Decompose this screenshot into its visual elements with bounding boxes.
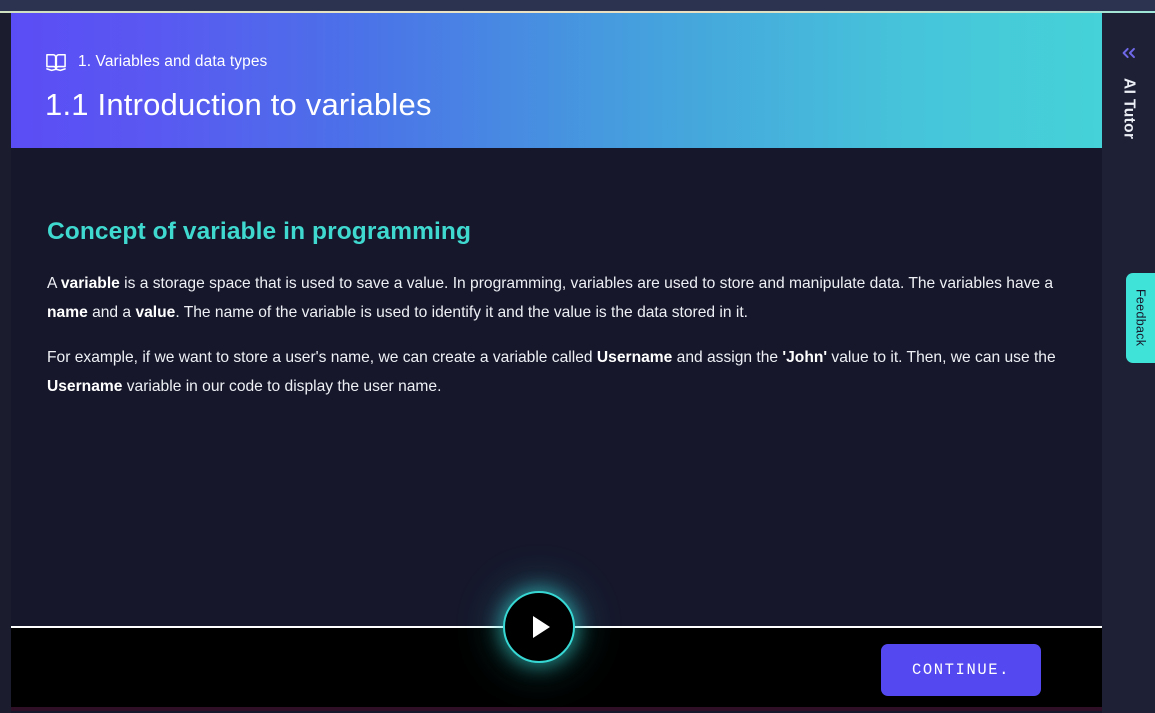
ai-tutor-rail[interactable]: AI Tutor	[1102, 13, 1155, 713]
browser-top-bar	[0, 0, 1155, 11]
body-text: and a	[88, 304, 136, 321]
paragraph-list: A variable is a storage space that is us…	[47, 269, 1066, 401]
lesson-body: Concept of variable in programming A var…	[11, 148, 1102, 626]
continue-button[interactable]: CONTINUE.	[881, 644, 1041, 696]
emphasis-term: Username	[597, 349, 672, 366]
play-icon	[533, 616, 550, 638]
body-text: and assign the	[672, 349, 782, 366]
body-text: A	[47, 275, 61, 292]
emphasis-term: Username	[47, 378, 122, 395]
section-heading: Concept of variable in programming	[47, 218, 1066, 246]
body-text: For example, if we want to store a user'…	[47, 349, 597, 366]
body-text: is a storage space that is used to save …	[120, 275, 1053, 292]
lesson-page: 1. Variables and data types 1.1 Introduc…	[0, 0, 1155, 713]
ai-tutor-label: AI Tutor	[1120, 78, 1138, 139]
feedback-tab[interactable]: Feedback	[1126, 273, 1155, 363]
emphasis-term: value	[135, 304, 175, 321]
page-title: 1.1 Introduction to variables	[45, 87, 1102, 123]
play-button[interactable]	[503, 591, 575, 663]
emphasis-term: 'John'	[782, 349, 827, 366]
feedback-label: Feedback	[1134, 289, 1148, 346]
breadcrumb-label: 1. Variables and data types	[78, 53, 267, 71]
emphasis-term: name	[47, 304, 88, 321]
body-paragraph: A variable is a storage space that is us…	[47, 269, 1066, 327]
lesson-header-banner: 1. Variables and data types 1.1 Introduc…	[11, 13, 1102, 148]
footer-bottom-strip	[11, 707, 1102, 711]
chevrons-left-icon[interactable]	[1120, 46, 1138, 60]
breadcrumb[interactable]: 1. Variables and data types	[45, 51, 1102, 73]
left-gutter	[0, 13, 11, 713]
body-text: . The name of the variable is used to id…	[175, 304, 748, 321]
body-text: value to it. Then, we can use the	[827, 349, 1056, 366]
body-paragraph: For example, if we want to store a user'…	[47, 343, 1066, 401]
emphasis-term: variable	[61, 275, 120, 292]
book-icon	[45, 52, 67, 72]
body-text: variable in our code to display the user…	[122, 378, 441, 395]
